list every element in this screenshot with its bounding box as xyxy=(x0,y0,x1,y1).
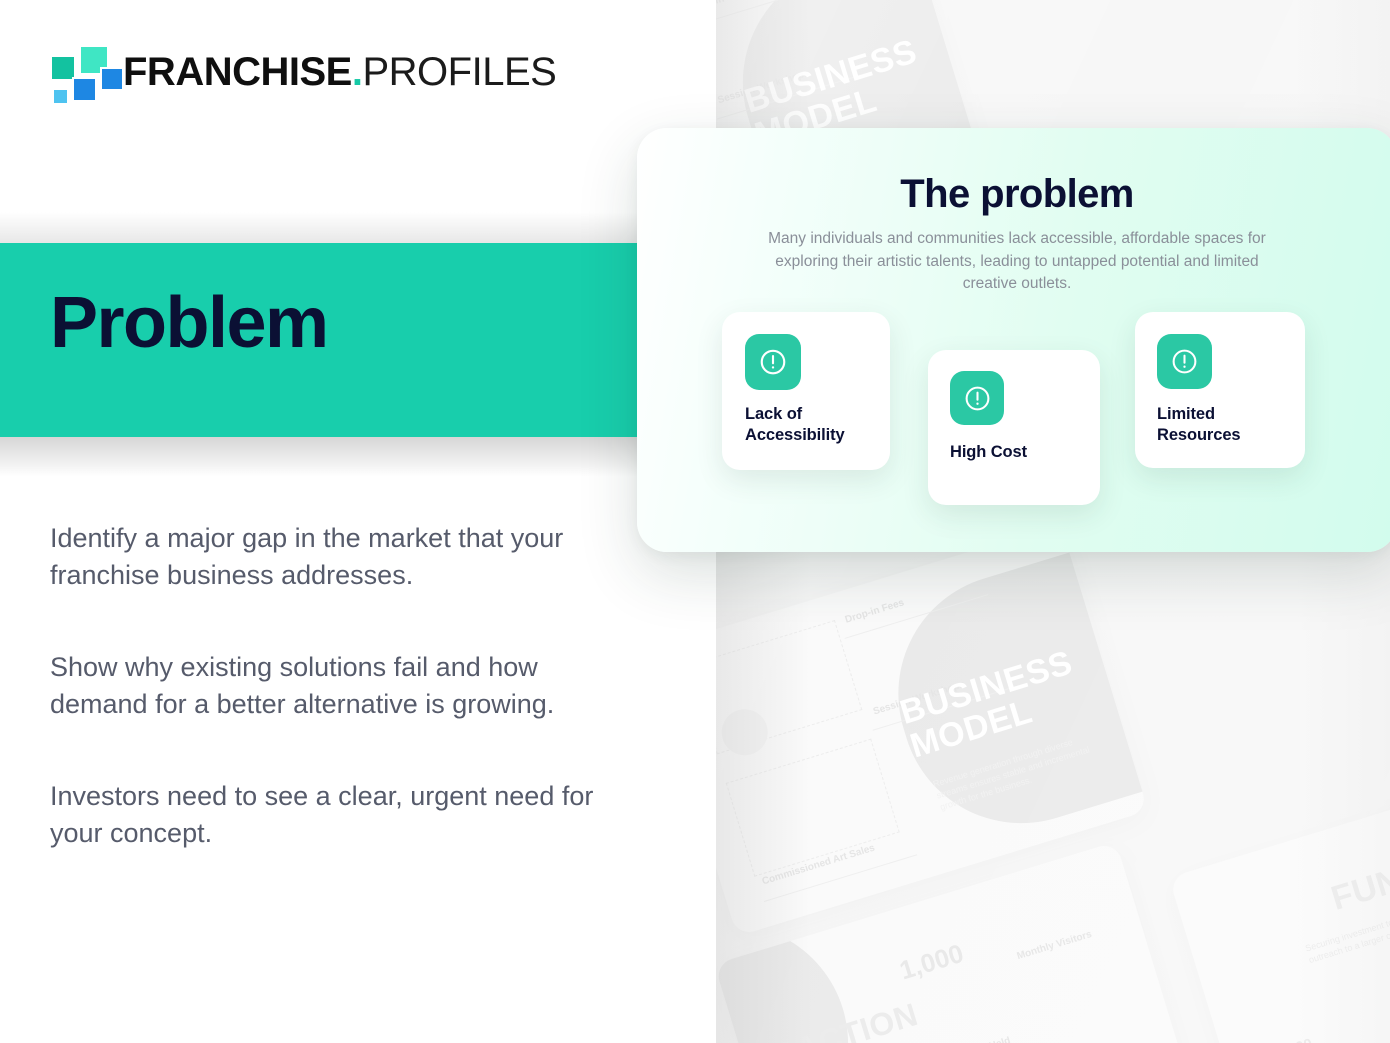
problem-card-label: Lack of Accessibility xyxy=(745,404,875,446)
body-paragraph-2: Show why existing solutions fail and how… xyxy=(50,649,610,723)
logo-square-4 xyxy=(100,67,124,91)
panel-subtitle: Many individuals and communities lack ac… xyxy=(752,228,1282,296)
section-banner: Problem xyxy=(0,243,637,437)
problem-card-limited-resources[interactable]: Limited Resources xyxy=(1135,312,1305,468)
body-paragraph-3: Investors need to see a clear, urgent ne… xyxy=(50,778,610,852)
page-title: Problem xyxy=(50,287,328,359)
alert-circle-icon xyxy=(950,371,1004,425)
problem-card-high-cost[interactable]: High Cost xyxy=(928,350,1100,505)
body-paragraph-1: Identify a major gap in the market that … xyxy=(50,520,610,594)
brand-name-dot: . xyxy=(352,50,363,94)
problem-card-label: High Cost xyxy=(950,442,1090,463)
problem-preview-panel[interactable]: The problem Many individuals and communi… xyxy=(637,128,1390,552)
panel-title: The problem xyxy=(637,172,1390,217)
brand-logo[interactable]: FRANCHISE.PROFILES xyxy=(48,45,556,98)
problem-card-lack-of-accessibility[interactable]: Lack of Accessibility xyxy=(722,312,890,470)
slide-canvas: Drop-in Fees Session Workshops Commissio… xyxy=(0,0,1390,1043)
alert-circle-icon xyxy=(745,334,801,390)
logo-square-3 xyxy=(72,77,97,102)
brand-wordmark: FRANCHISE.PROFILES xyxy=(123,52,556,92)
brand-name-bold: FRANCHISE xyxy=(123,50,352,94)
logo-square-5 xyxy=(52,88,69,105)
banner-shadow-top xyxy=(0,212,660,246)
alert-circle-icon xyxy=(1157,334,1212,389)
problem-card-label: Limited Resources xyxy=(1157,404,1289,446)
body-copy: Identify a major gap in the market that … xyxy=(50,520,610,852)
logo-mark-icon xyxy=(48,45,106,98)
banner-shadow-bottom xyxy=(0,437,660,477)
brand-name-light: PROFILES xyxy=(362,50,556,94)
